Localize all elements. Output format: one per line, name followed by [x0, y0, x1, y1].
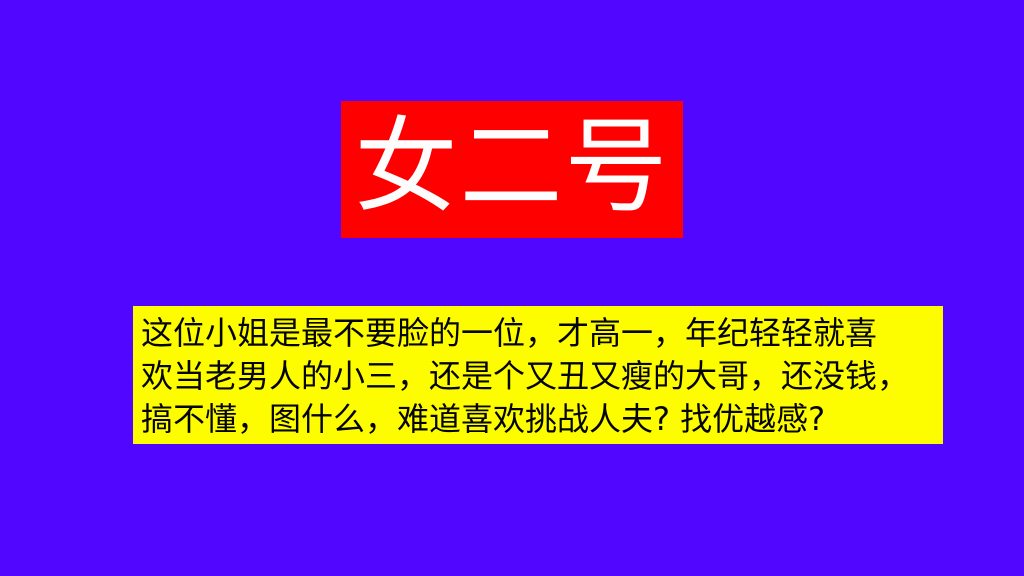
slide-canvas: 女二号 这位小姐是最不要脸的一位，才高一，年纪轻轻就喜 欢当老男人的小三，还是个… — [0, 0, 1024, 576]
caption-line-3: 搞不懂，图什么，难道喜欢挑战人夫? 找优越感? — [141, 398, 939, 441]
title-plate: 女二号 — [341, 101, 683, 238]
page-title: 女二号 — [355, 116, 670, 219]
caption-line-1: 这位小姐是最不要脸的一位，才高一，年纪轻轻就喜 — [141, 312, 939, 355]
caption-plate: 这位小姐是最不要脸的一位，才高一，年纪轻轻就喜 欢当老男人的小三，还是个又丑又瘦… — [133, 306, 943, 444]
caption-line-2: 欢当老男人的小三，还是个又丑又瘦的大哥，还没钱， — [141, 355, 939, 398]
